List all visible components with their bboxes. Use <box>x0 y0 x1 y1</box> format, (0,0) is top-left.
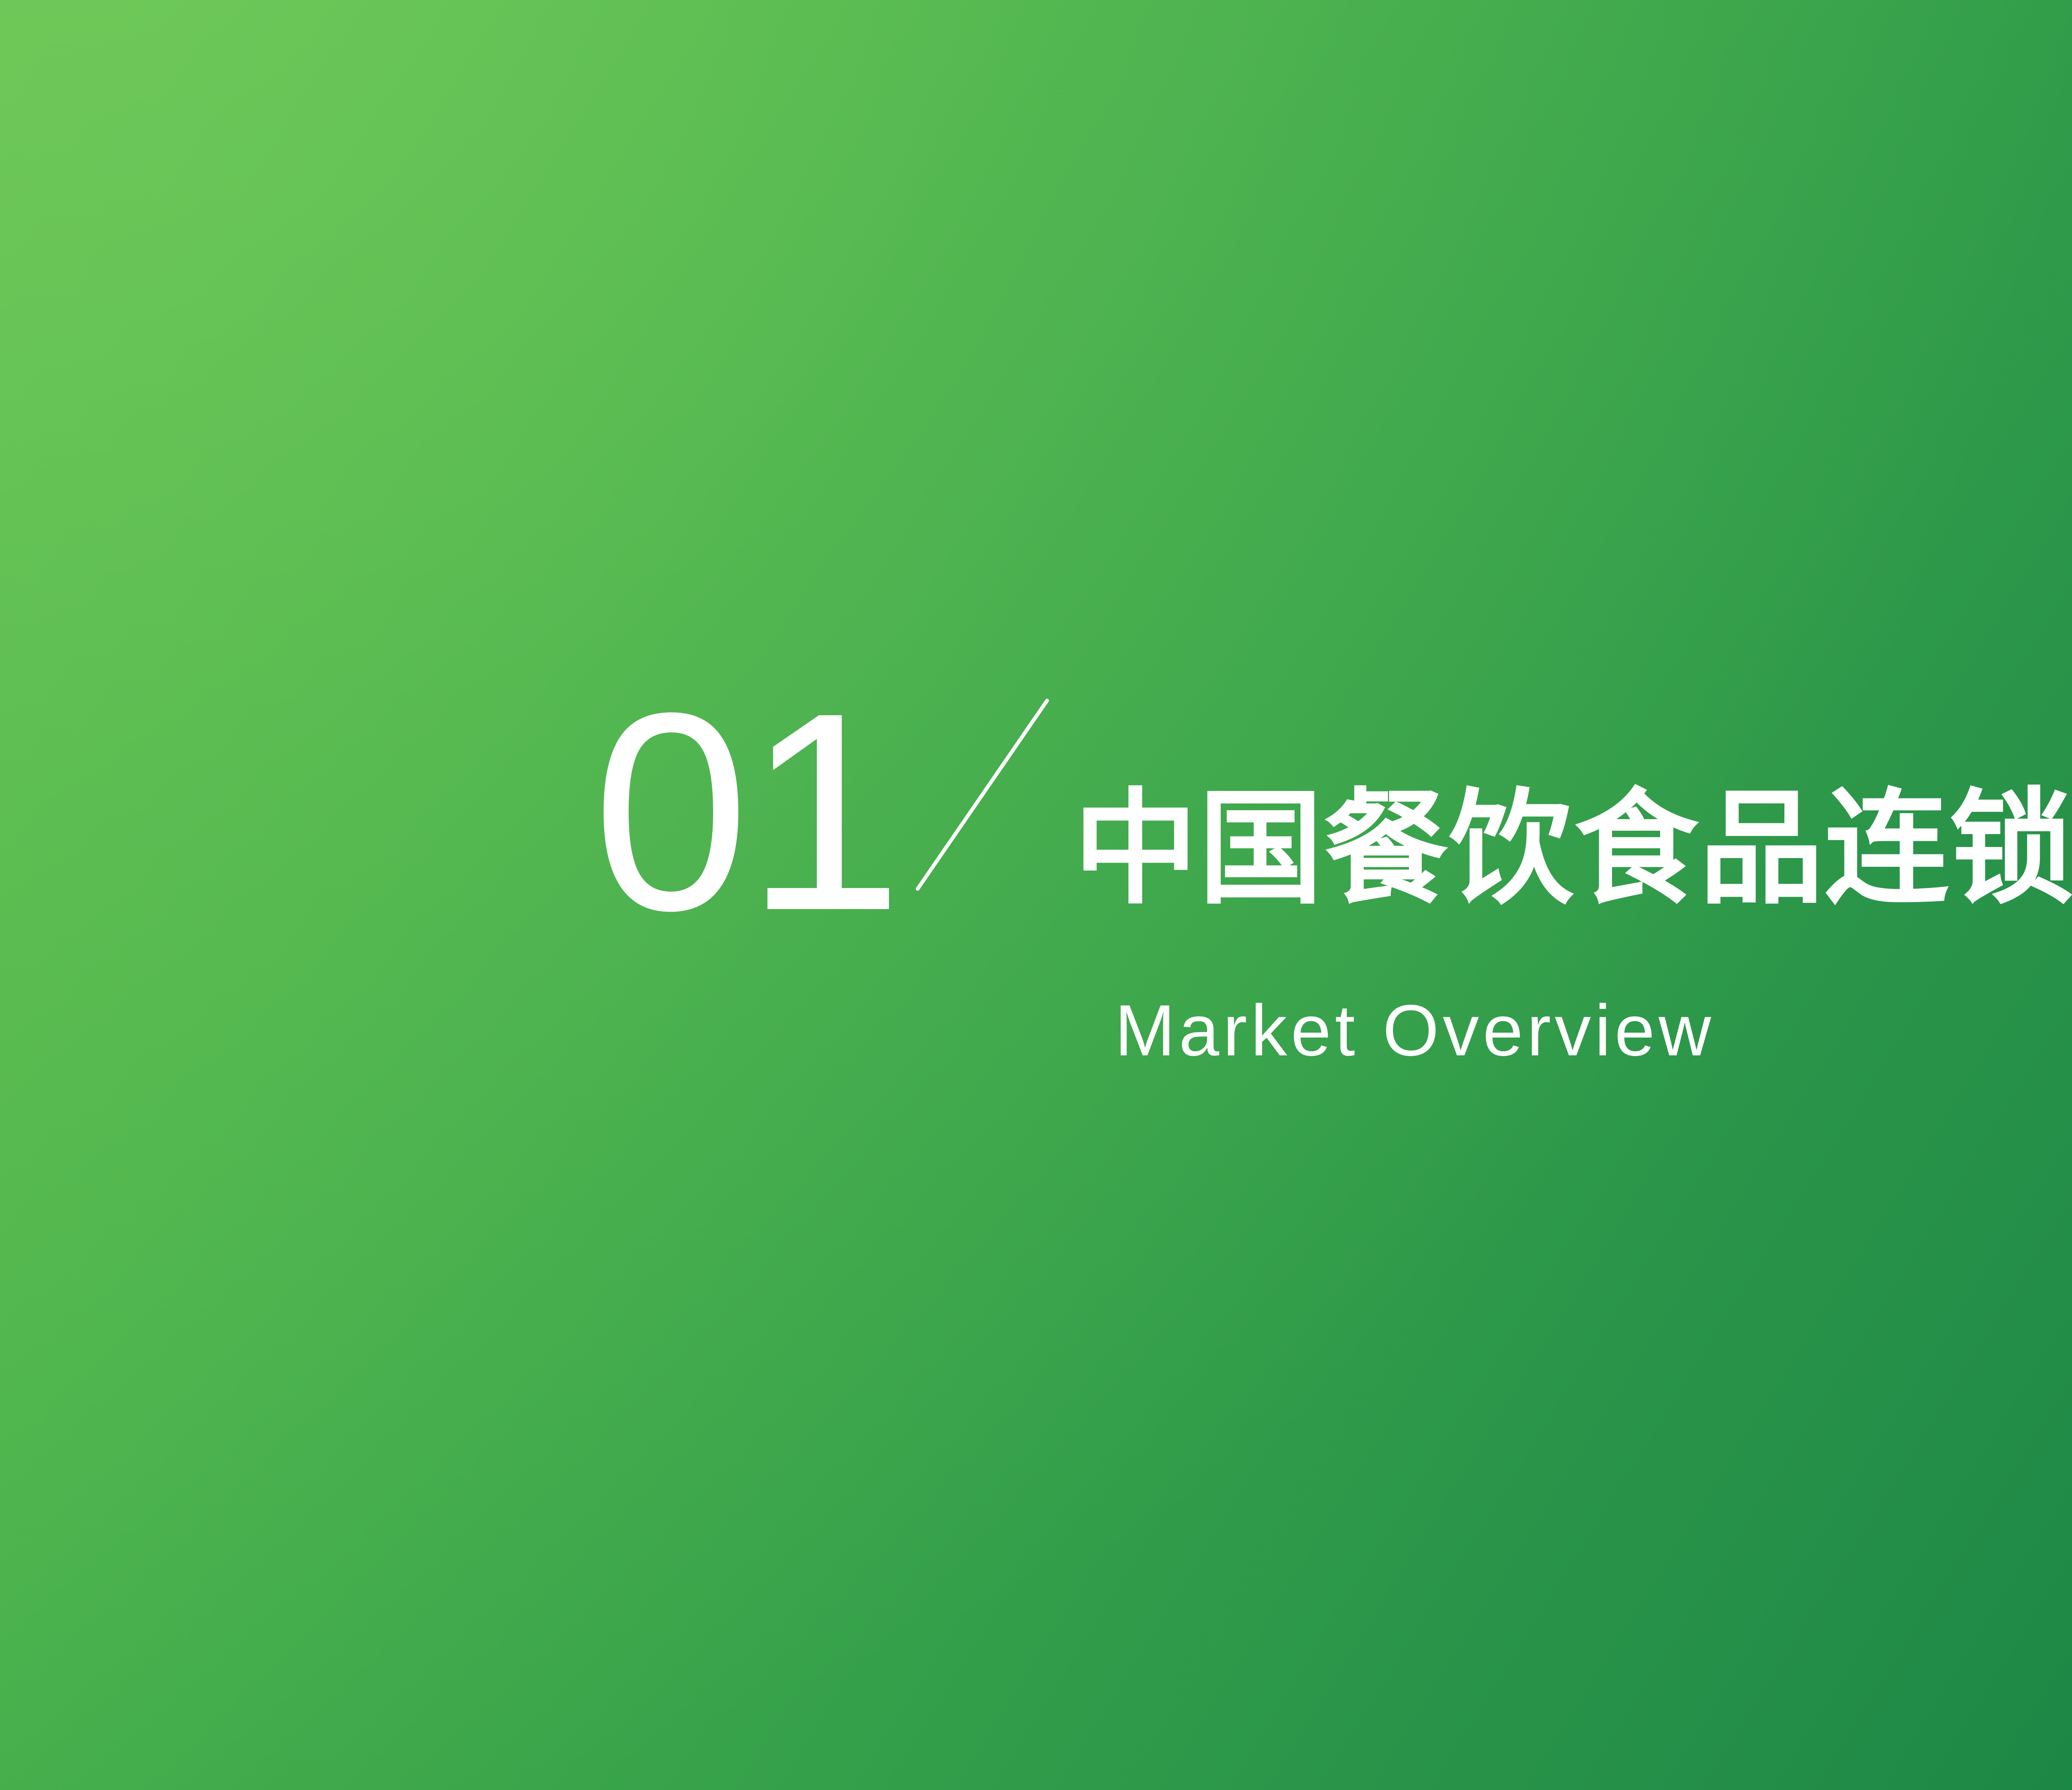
section-title-chinese: 中国餐饮食品连锁市场概览 <box>1073 786 2072 911</box>
section-number: 01 <box>593 691 899 933</box>
section-headline: 01 中国餐饮食品连锁市场概览 <box>593 663 2072 928</box>
slide-canvas: Research 艾瑞咨询 01 中国餐饮食品连锁市场概览 Market Ove… <box>0 0 2072 1790</box>
section-subtitle-english: Market Overview <box>1115 994 1715 1067</box>
diagonal-slash-divider <box>899 663 1073 928</box>
